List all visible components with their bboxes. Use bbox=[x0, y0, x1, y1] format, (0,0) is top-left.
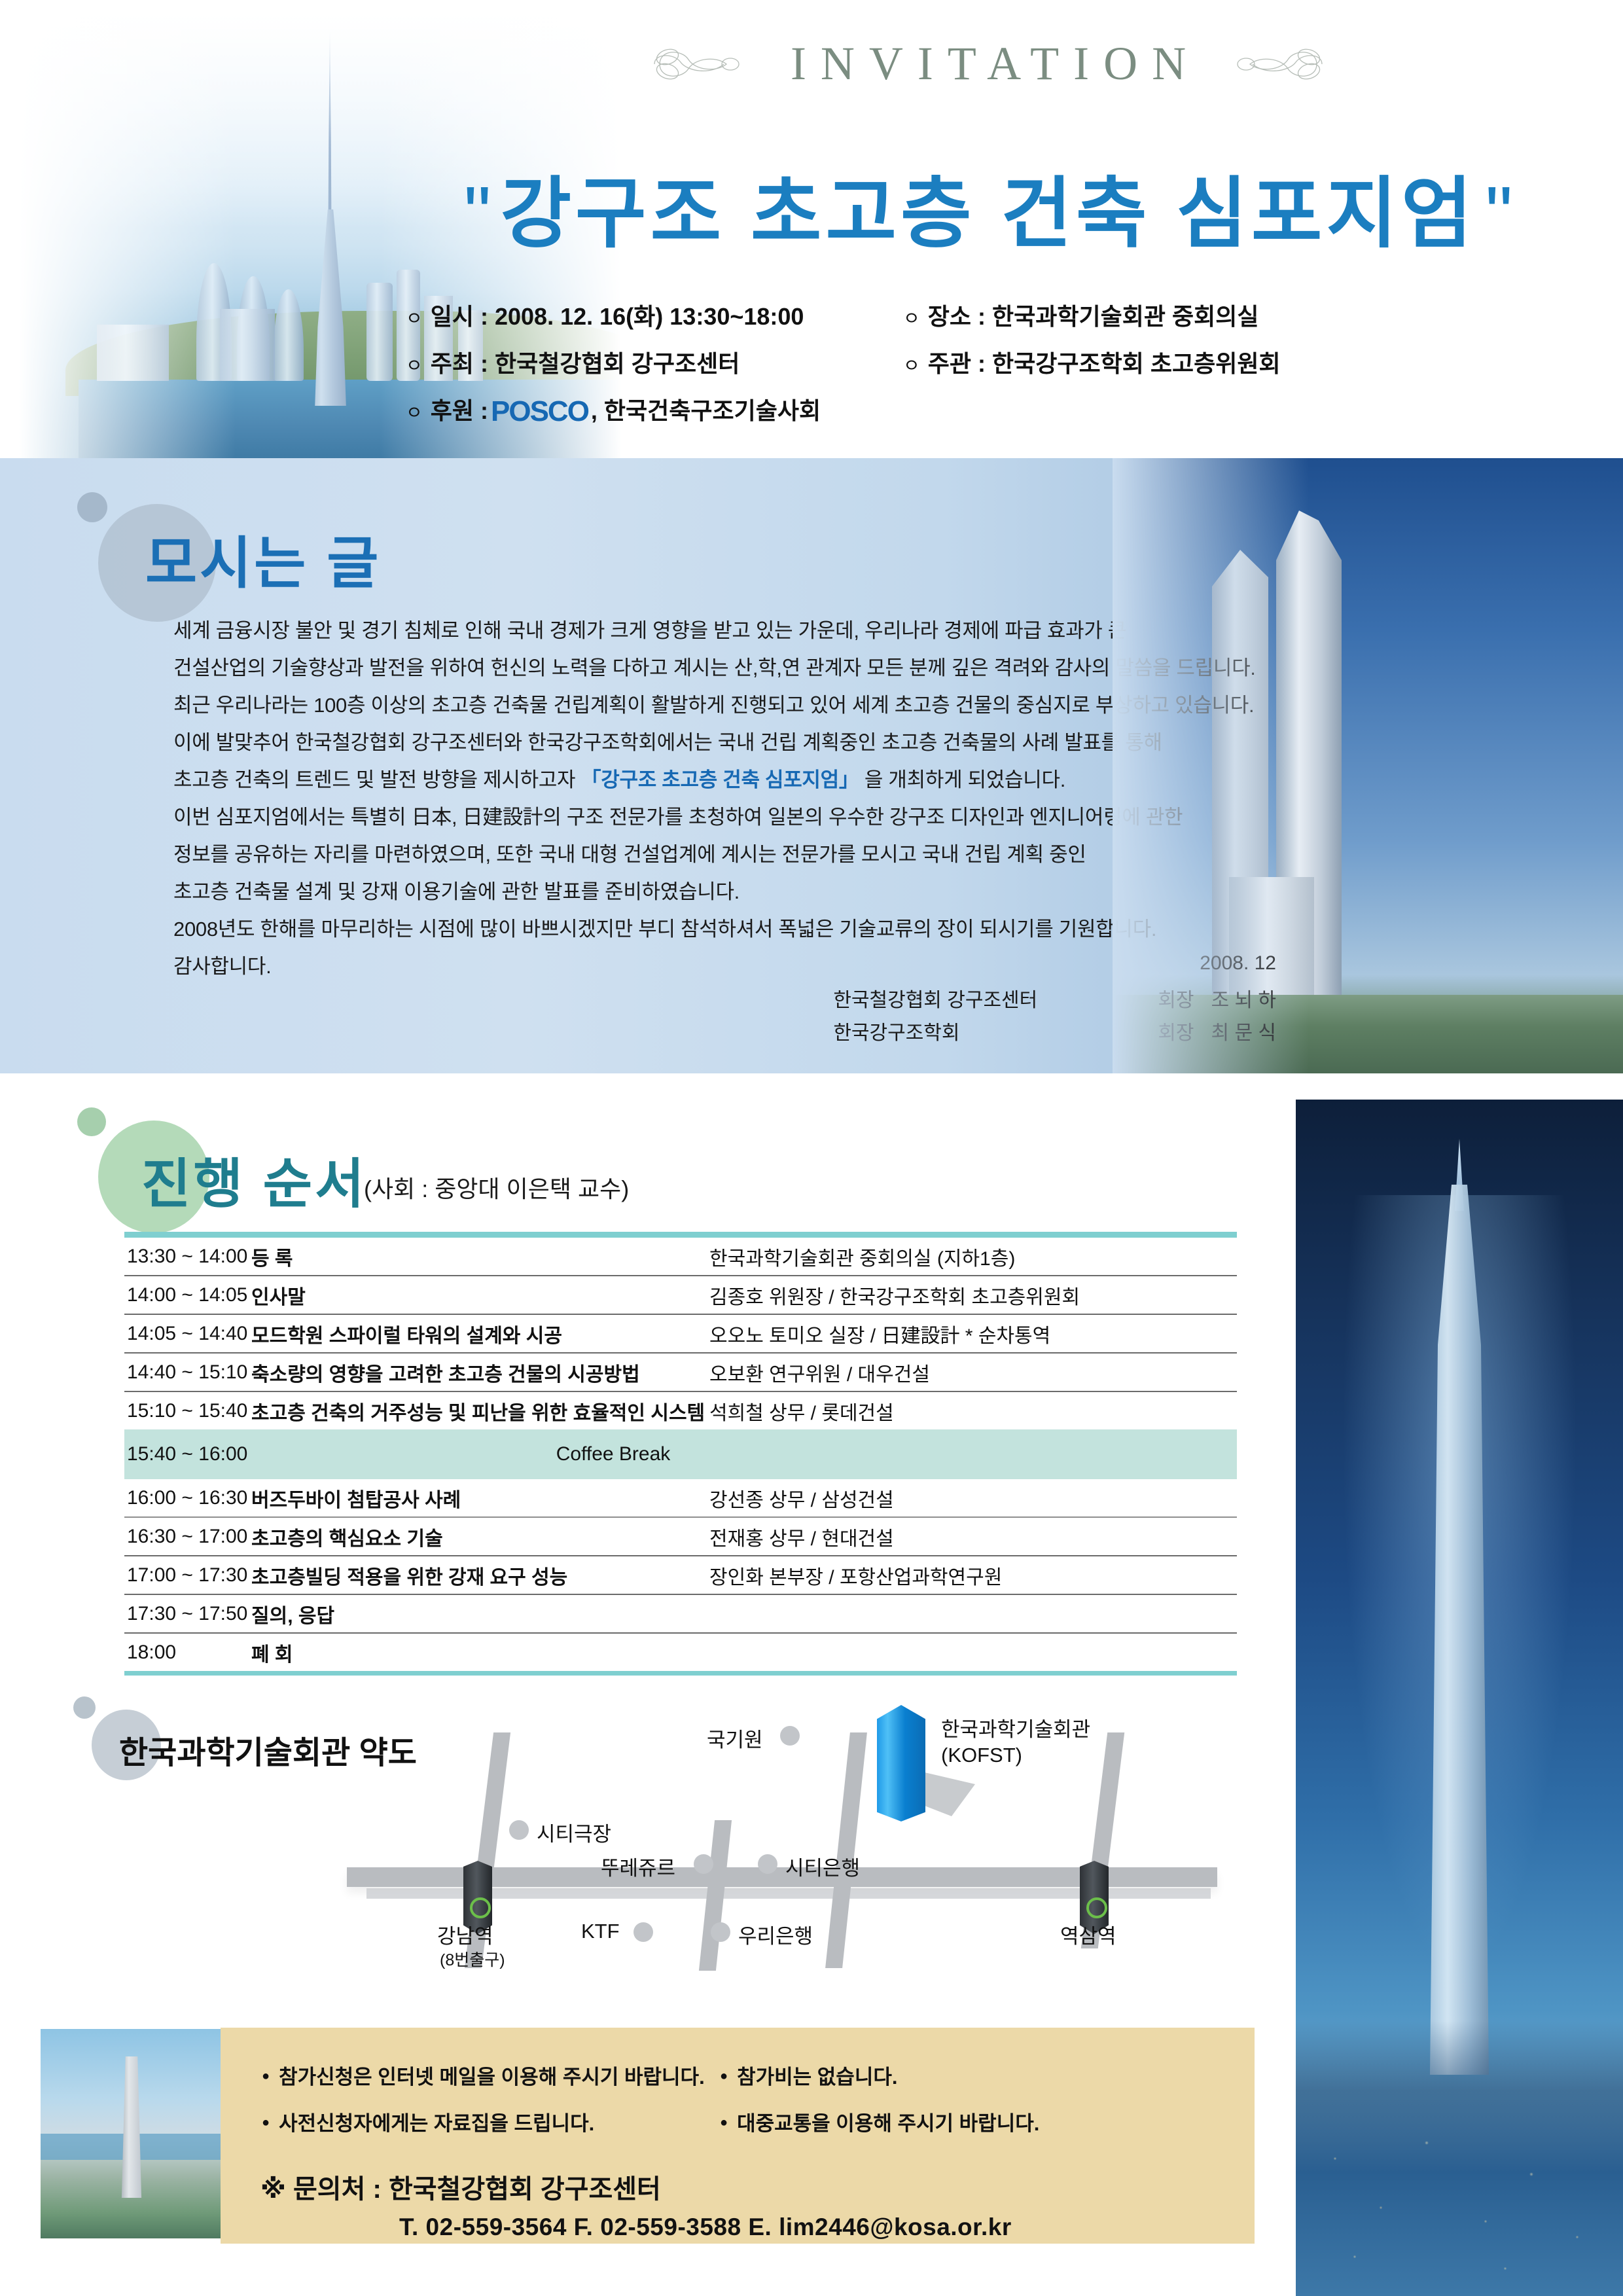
table-row: 17:30 ~ 17:50 질의, 응답 bbox=[124, 1595, 1237, 1634]
meta-row-1: ㅇ 일시 : 2008. 12. 16(화) 13:30~18:00 ㅇ 장소 … bbox=[406, 298, 1518, 332]
map-accent-dot bbox=[73, 1696, 96, 1719]
greeting-accent-dot bbox=[77, 492, 107, 522]
signature-org: 한국강구조학회 bbox=[833, 1016, 1141, 1045]
tower-ground bbox=[1113, 995, 1623, 1073]
row-speaker: 장인화 본부장 / 포항산업과학연구원 bbox=[709, 1561, 1237, 1590]
table-row: 16:30 ~ 17:00 초고층의 핵심요소 기술 전재홍 상무 / 현대건설 bbox=[124, 1518, 1237, 1556]
map-dot-woori-bank bbox=[711, 1922, 730, 1942]
map-destination-label: 한국과학기술회관 (KOFST) bbox=[941, 1717, 1090, 1768]
table-row: 15:10 ~ 15:40 초고층 건축의 거주성능 및 피난을 위한 효율적인… bbox=[124, 1392, 1237, 1429]
meta-sponsor: ㅇ 후원 : POSCO , 한국건축구조기술사회 bbox=[406, 392, 821, 426]
footer-tower-image bbox=[41, 2029, 221, 2238]
schedule-top-rule bbox=[124, 1232, 1237, 1238]
row-speaker: 김종호 위원장 / 한국강구조학회 초고층위원회 bbox=[709, 1281, 1237, 1310]
tower-podium bbox=[1229, 877, 1314, 1008]
invitation-eyebrow: INVITATION bbox=[366, 37, 1610, 91]
subway-ring-icon bbox=[1086, 1897, 1107, 1918]
map-label-woori-bank: 우리은행 bbox=[738, 1920, 813, 1949]
bullet-icon: ● bbox=[720, 2115, 728, 2130]
map-dot-ktf bbox=[633, 1922, 653, 1942]
row-topic: Coffee Break bbox=[251, 1443, 1237, 1465]
note-text: 참가신청은 인터넷 메일을 이용해 주시기 바랍니다. bbox=[279, 2060, 705, 2090]
footer-tower bbox=[118, 2056, 145, 2198]
meta-bullet-icon: ㅇ bbox=[406, 399, 423, 425]
event-meta: ㅇ 일시 : 2008. 12. 16(화) 13:30~18:00 ㅇ 장소 … bbox=[406, 298, 1518, 439]
row-topic: 축소량의 영향을 고려한 초고층 건물의 시공방법 bbox=[251, 1358, 709, 1387]
row-time: 17:00 ~ 17:30 bbox=[124, 1564, 251, 1587]
map-dot-gukgiwon bbox=[780, 1726, 800, 1746]
table-row: 14:05 ~ 14:40 모드학원 스파이럴 타워의 설계와 시공 오오노 토… bbox=[124, 1315, 1237, 1354]
map-dot-tous-les-jours bbox=[694, 1854, 713, 1874]
poster-page: INVITATION "강구조 초고층 건축 심포지엄" bbox=[0, 0, 1623, 2296]
meta-venue: ㅇ 장소 : 한국과학기술회관 중회의실 bbox=[903, 298, 1258, 332]
row-time: 18:00 bbox=[124, 1641, 251, 1664]
symposium-name-highlight: 「강구조 초고층 건축 심포지엄」 bbox=[581, 768, 859, 791]
title-text: 강구조 초고층 건축 심포지엄 bbox=[500, 171, 1476, 257]
map-canvas: 한국과학기술회관 (KOFST) 국기원 시티극장 뚜레쥬르 시티은행 KTF … bbox=[340, 1692, 1224, 1993]
row-topic: 모드학원 스파이럴 타워의 설계와 시공 bbox=[251, 1319, 709, 1348]
right-tower-night-image bbox=[1296, 1100, 1623, 2296]
row-speaker: 석희철 상무 / 롯데건설 bbox=[709, 1397, 1237, 1426]
row-speaker: 전재홍 상무 / 현대건설 bbox=[709, 1522, 1237, 1551]
map-label-citibank: 시티은행 bbox=[785, 1852, 860, 1881]
note-row-1: ● 참가신청은 인터넷 메일을 이용해 주시기 바랍니다. ● 참가비는 없습니… bbox=[262, 2060, 1191, 2090]
greeting-hl-before: 초고층 건축의 트렌드 및 발전 방향을 제시하고자 bbox=[173, 768, 581, 791]
block-building-2 bbox=[97, 325, 169, 381]
row-topic: 초고층 건축의 거주성능 및 피난을 위한 효율적인 시스템 bbox=[251, 1397, 709, 1426]
table-row: 17:00 ~ 17:30 초고층빌딩 적용을 위한 강재 요구 성능 장인화 … bbox=[124, 1556, 1237, 1595]
meta-host-label: 주최 : 한국철강협회 강구조센터 bbox=[431, 345, 740, 379]
note-item: ● 참가신청은 인터넷 메일을 이용해 주시기 바랍니다. bbox=[262, 2060, 720, 2090]
meta-host: ㅇ 주최 : 한국철강협회 강구조센터 bbox=[406, 345, 903, 379]
map-dot-citibank bbox=[758, 1854, 777, 1874]
row-time: 14:00 ~ 14:05 bbox=[124, 1284, 251, 1306]
subway-ring-icon bbox=[470, 1897, 491, 1918]
table-row: 18:00 폐 회 bbox=[124, 1634, 1237, 1671]
row-time: 16:30 ~ 17:00 bbox=[124, 1526, 251, 1548]
map-label-yeoksam-station: 역삼역 bbox=[1060, 1920, 1116, 1949]
program-moderator: (사회 : 중앙대 이은택 교수) bbox=[364, 1170, 629, 1204]
program-accent-dot bbox=[77, 1107, 106, 1136]
note-text: 참가비는 없습니다. bbox=[737, 2060, 897, 2090]
note-row-2: ● 사전신청자에게는 자료집을 드립니다. ● 대중교통을 이용해 주시기 바랍… bbox=[262, 2107, 1191, 2136]
row-time: 14:40 ~ 15:10 bbox=[124, 1361, 251, 1384]
map-label-tous-les-jours: 뚜레쥬르 bbox=[601, 1852, 675, 1881]
note-text: 사전신청자에게는 자료집을 드립니다. bbox=[279, 2107, 594, 2136]
row-speaker: 오오노 토미오 실장 / 日建設計 * 순차통역 bbox=[709, 1319, 1237, 1348]
table-row-coffee-break: 15:40 ~ 16:00 Coffee Break bbox=[124, 1429, 1237, 1479]
kofst-building-icon bbox=[877, 1705, 925, 1821]
meta-venue-label: 장소 : 한국과학기술회관 중회의실 bbox=[928, 298, 1259, 332]
hero-section: INVITATION "강구조 초고층 건축 심포지엄" bbox=[0, 0, 1623, 458]
invitation-label: INVITATION bbox=[776, 37, 1200, 91]
map-destination-code: (KOFST) bbox=[941, 1742, 1090, 1768]
signature-org: 한국철강협회 강구조센터 bbox=[833, 984, 1141, 1013]
meta-row-2: ㅇ 주최 : 한국철강협회 강구조센터 ㅇ 주관 : 한국강구조학회 초고층위원… bbox=[406, 345, 1518, 379]
meta-bullet-icon: ㅇ bbox=[903, 304, 920, 331]
table-row: 16:00 ~ 16:30 버즈두바이 첨탑공사 사례 강선종 상무 / 삼성건… bbox=[124, 1479, 1237, 1518]
sail-tower-3 bbox=[274, 289, 304, 381]
row-topic: 버즈두바이 첨탑공사 사례 bbox=[251, 1484, 709, 1513]
meta-row-3: ㅇ 후원 : POSCO , 한국건축구조기술사회 bbox=[406, 392, 1518, 426]
row-time: 15:40 ~ 16:00 bbox=[124, 1443, 251, 1465]
contact-details: T. 02-559-3564 F. 02-559-3588 E. lim2446… bbox=[399, 2214, 1012, 2241]
table-row: 14:00 ~ 14:05 인사말 김종호 위원장 / 한국강구조학회 초고층위… bbox=[124, 1276, 1237, 1315]
meta-bullet-icon: ㅇ bbox=[406, 304, 423, 331]
map-label-gangnam-exit: (8번출구) bbox=[440, 1947, 505, 1971]
sail-tower-1 bbox=[196, 263, 232, 381]
meta-date: ㅇ 일시 : 2008. 12. 16(화) 13:30~18:00 bbox=[406, 298, 903, 332]
bullet-icon: ● bbox=[262, 2115, 270, 2130]
meta-sponsor-prefix: 후원 : bbox=[431, 392, 488, 426]
map-label-gangnam-station: 강남역 bbox=[437, 1920, 493, 1949]
note-text: 대중교통을 이용해 주시기 바랍니다. bbox=[737, 2107, 1039, 2136]
city-lights bbox=[1296, 2100, 1623, 2296]
title-close-quote: " bbox=[1476, 171, 1522, 257]
map-label-city-theater: 시티극장 bbox=[537, 1818, 611, 1847]
row-topic: 질의, 응답 bbox=[251, 1600, 709, 1628]
meta-bullet-icon: ㅇ bbox=[903, 351, 920, 378]
map-destination-name: 한국과학기술회관 bbox=[941, 1717, 1090, 1742]
table-row: 13:30 ~ 14:00 등 록 한국과학기술회관 중회의실 (지하1층) bbox=[124, 1238, 1237, 1276]
table-row: 14:40 ~ 15:10 축소량의 영향을 고려한 초고층 건물의 시공방법 … bbox=[124, 1354, 1237, 1392]
greeting-tower-image bbox=[1113, 458, 1623, 1073]
row-speaker: 오보환 연구위원 / 대우건설 bbox=[709, 1358, 1237, 1387]
row-time: 15:10 ~ 15:40 bbox=[124, 1400, 251, 1422]
row-topic: 인사말 bbox=[251, 1281, 709, 1310]
footer-notes: ● 참가신청은 인터넷 메일을 이용해 주시기 바랍니다. ● 참가비는 없습니… bbox=[262, 2060, 1191, 2153]
note-item: ● 참가비는 없습니다. bbox=[720, 2060, 897, 2090]
meta-bullet-icon: ㅇ bbox=[406, 351, 423, 378]
row-time: 16:00 ~ 16:30 bbox=[124, 1487, 251, 1509]
meta-organizer-label: 주관 : 한국강구조학회 초고층위원회 bbox=[928, 345, 1281, 379]
row-topic: 등 록 bbox=[251, 1242, 709, 1271]
row-time: 13:30 ~ 14:00 bbox=[124, 1246, 251, 1268]
road-vertical-3 bbox=[825, 1732, 867, 1968]
title-open-quote: " bbox=[455, 171, 501, 257]
program-title: 진행 순서 bbox=[141, 1140, 367, 1218]
flourish-left-icon bbox=[648, 41, 746, 87]
map-label-ktf: KTF bbox=[581, 1920, 620, 1943]
contact-title: ※ 문의처 : 한국철강협회 강구조센터 bbox=[260, 2168, 661, 2206]
schedule-table: 13:30 ~ 14:00 등 록 한국과학기술회관 중회의실 (지하1층) 1… bbox=[124, 1232, 1237, 1677]
row-topic: 초고층빌딩 적용을 위한 강재 요구 성능 bbox=[251, 1561, 709, 1590]
note-item: ● 사전신청자에게는 자료집을 드립니다. bbox=[262, 2107, 720, 2136]
page-title: "강구조 초고층 건축 심포지엄" bbox=[366, 151, 1610, 262]
greeting-title: 모시는 글 bbox=[145, 517, 381, 599]
row-speaker: 한국과학기술회관 중회의실 (지하1층) bbox=[709, 1242, 1237, 1271]
meta-sponsor-suffix: , 한국건축구조기술사회 bbox=[591, 392, 821, 426]
row-time: 17:30 ~ 17:50 bbox=[124, 1603, 251, 1625]
posco-logo: POSCO bbox=[491, 395, 588, 428]
flourish-right-icon bbox=[1230, 41, 1329, 87]
meta-organizer: ㅇ 주관 : 한국강구조학회 초고층위원회 bbox=[903, 345, 1281, 379]
note-item: ● 대중교통을 이용해 주시기 바랍니다. bbox=[720, 2107, 1039, 2136]
row-topic: 폐 회 bbox=[251, 1638, 709, 1667]
bullet-icon: ● bbox=[720, 2069, 728, 2084]
meta-date-label: 일시 : 2008. 12. 16(화) 13:30~18:00 bbox=[431, 298, 804, 332]
row-speaker: 강선종 상무 / 삼성건설 bbox=[709, 1484, 1237, 1513]
map-label-gukgiwon: 국기원 bbox=[707, 1723, 763, 1753]
map-dot-city-theater bbox=[509, 1820, 529, 1840]
bullet-icon: ● bbox=[262, 2069, 270, 2084]
row-topic: 초고층의 핵심요소 기술 bbox=[251, 1522, 709, 1551]
greeting-hl-after: 을 개최하게 되었습니다. bbox=[859, 768, 1065, 791]
block-building-1 bbox=[220, 309, 275, 381]
row-time: 14:05 ~ 14:40 bbox=[124, 1323, 251, 1345]
twin-tower-b bbox=[1212, 550, 1268, 1008]
